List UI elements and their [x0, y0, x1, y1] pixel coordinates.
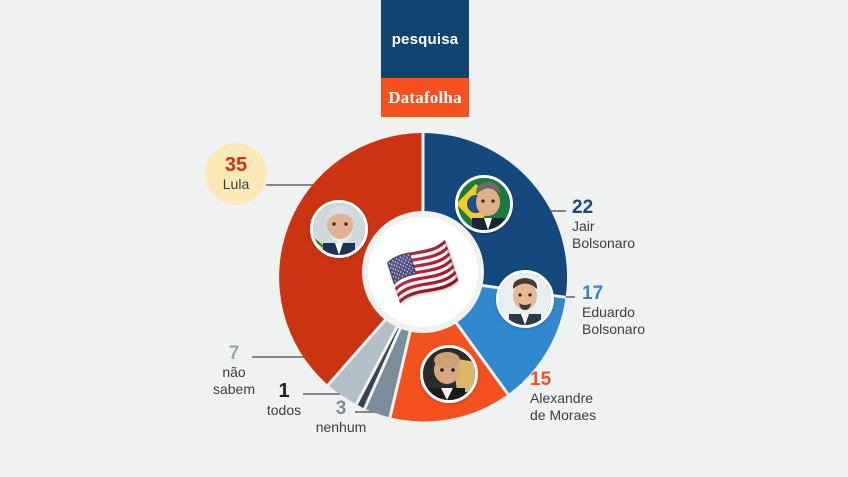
eduardo-bolsonaro-avatar: [496, 270, 554, 328]
label-todos-name: todos: [258, 402, 310, 419]
label-lula-value: 35: [225, 155, 247, 176]
label-nao-sabem-line1: não: [204, 364, 264, 381]
label-nao-sabem[interactable]: 7 não sabem: [204, 344, 264, 398]
alexandre-de-moraes-portrait: [423, 348, 475, 400]
label-eduardo-value: 17: [582, 284, 645, 304]
label-lula[interactable]: 35 Lula: [205, 143, 267, 205]
label-alexandre-name-line2: de Moraes: [530, 407, 596, 424]
alexandre-de-moraes-avatar: [420, 345, 478, 403]
label-eduardo-name-line2: Bolsonaro: [582, 321, 645, 338]
lula-avatar: [310, 200, 368, 258]
eduardo-bolsonaro-portrait: [499, 273, 551, 325]
label-todos-value: 1: [258, 381, 310, 402]
chart-center-hub: 🇺🇸: [368, 217, 478, 327]
label-todos[interactable]: 1 todos: [258, 381, 310, 419]
label-alexandre-de-moraes[interactable]: 15 Alexandre de Moraes: [530, 370, 596, 424]
label-nenhum-value: 3: [306, 399, 376, 419]
jair-bolsonaro-avatar: [455, 175, 513, 233]
usa-flag-icon: 🇺🇸: [383, 236, 464, 308]
label-nao-sabem-value: 7: [204, 344, 264, 364]
label-jair-bolsonaro[interactable]: 22 Jair Bolsonaro: [572, 198, 635, 252]
label-alexandre-value: 15: [530, 370, 596, 390]
label-nao-sabem-line2: sabem: [204, 381, 264, 398]
label-eduardo-name-line1: Eduardo: [582, 304, 645, 321]
label-jair-name-line2: Bolsonaro: [572, 235, 635, 252]
label-nenhum-name: nenhum: [306, 419, 376, 436]
label-eduardo-bolsonaro[interactable]: 17 Eduardo Bolsonaro: [582, 284, 645, 338]
label-jair-value: 22: [572, 198, 635, 218]
label-lula-name: Lula: [223, 176, 249, 193]
label-nenhum[interactable]: 3 nenhum: [306, 399, 376, 436]
label-jair-name-line1: Jair: [572, 218, 635, 235]
label-alexandre-name-line1: Alexandre: [530, 390, 596, 407]
lula-portrait: [313, 203, 365, 255]
jair-bolsonaro-portrait: [458, 178, 510, 230]
infographic-canvas: pesquisa Datafolha: [0, 0, 848, 477]
